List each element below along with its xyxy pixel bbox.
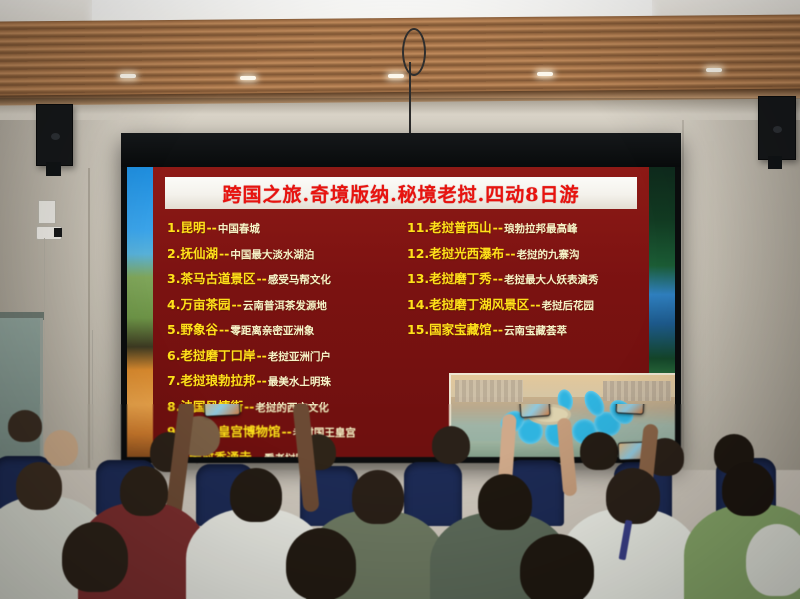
- item-dash: --: [205, 220, 217, 235]
- item-number: 1.: [167, 220, 180, 235]
- downlight-icon: [240, 76, 256, 80]
- item-dash: --: [492, 271, 504, 286]
- item-dash: --: [230, 297, 242, 312]
- left-wall-speaker: [36, 104, 73, 166]
- list-item: 15. 国家宝藏馆 -- 云南宝藏荟萃: [407, 319, 639, 338]
- item-desc: 琅勃拉邦最高峰: [504, 221, 578, 236]
- person-head: [580, 432, 618, 470]
- slide-title-band: 跨国之旅.奇境版纳.秘境老挝.四动8日游: [165, 177, 637, 209]
- item-desc: 中国春城: [218, 221, 260, 236]
- person-head: [230, 468, 282, 522]
- item-name: 老挝磨丁秀: [429, 268, 492, 287]
- item-number: 14.: [407, 297, 429, 312]
- item-number: 3.: [167, 271, 180, 286]
- item-number: 15.: [407, 322, 429, 337]
- item-desc: 云南宝藏荟萃: [504, 323, 567, 338]
- list-item: 3. 茶马古道景区 -- 感受马帮文化: [167, 268, 399, 287]
- speaker-bracket: [768, 156, 782, 169]
- list-item: 7. 老挝琅勃拉邦 -- 最美水上明珠: [167, 370, 399, 389]
- ceiling-shadow: [0, 98, 800, 114]
- item-dash: --: [492, 322, 504, 337]
- item-number: 2.: [167, 246, 180, 261]
- person-head: [44, 430, 78, 466]
- camera-lens-icon: [54, 228, 62, 237]
- person-head: [746, 524, 800, 596]
- item-desc: 老挝最大人妖表演秀: [504, 272, 599, 287]
- cable-loop: [402, 28, 426, 76]
- person-head: [8, 410, 42, 442]
- item-desc: 零距离亲密亚洲象: [230, 323, 314, 338]
- item-name: 国家宝藏馆: [429, 319, 492, 338]
- downlight-icon: [537, 72, 553, 76]
- list-item: 2. 抚仙湖 -- 中国最大淡水湖泊: [167, 243, 399, 262]
- phone-camera[interactable]: [519, 404, 550, 418]
- item-number: 4.: [167, 297, 180, 312]
- item-dash: --: [529, 297, 541, 312]
- speaker-bracket: [46, 162, 61, 176]
- item-name: 老挝琅勃拉邦: [180, 370, 255, 389]
- item-number: 11.: [407, 220, 429, 235]
- phone-camera[interactable]: [204, 404, 241, 417]
- item-dash: --: [218, 322, 230, 337]
- item-desc: 老挝的九寨沟: [517, 247, 580, 262]
- item-number: 5.: [167, 322, 180, 337]
- item-number: 12.: [407, 246, 429, 261]
- list-item: 12. 老挝光西瀑布 -- 老挝的九寨沟: [407, 243, 639, 262]
- list-item: 11. 老挝普西山 -- 琅勃拉邦最高峰: [407, 217, 639, 236]
- camera-housing: [38, 200, 56, 224]
- wood-slat-ceiling: [0, 15, 800, 102]
- person-head: [16, 462, 62, 510]
- person-head: [520, 534, 594, 599]
- person-head: [722, 462, 774, 516]
- photo-city-right: [603, 381, 670, 401]
- person-head: [606, 468, 660, 524]
- person-head: [286, 528, 356, 599]
- item-dash: --: [255, 271, 267, 286]
- item-name: 老挝光西瀑布: [429, 243, 504, 262]
- item-desc: 老挝后花园: [542, 298, 595, 313]
- item-dash: --: [492, 220, 504, 235]
- slide-title: 跨国之旅.奇境版纳.秘境老挝.四动8日游: [222, 180, 579, 207]
- item-number: 6.: [167, 348, 180, 363]
- item-desc: 最美水上明珠: [268, 374, 331, 389]
- item-desc: 老挝亚洲门户: [268, 349, 331, 364]
- downlight-icon: [120, 74, 136, 78]
- person-head: [120, 466, 168, 516]
- item-number: 13.: [407, 271, 429, 286]
- list-item: 14. 老挝磨丁湖风景区 -- 老挝后花园: [407, 294, 639, 313]
- item-desc: 感受马帮文化: [268, 272, 331, 287]
- right-wall-speaker: [758, 96, 796, 160]
- screen-bezel-top: [121, 133, 681, 167]
- conference-hall-photo: 跨国之旅.奇境版纳.秘境老挝.四动8日游 1. 昆明 -- 中国春城 2. 抚仙…: [0, 0, 800, 599]
- list-item: 1. 昆明 -- 中国春城: [167, 217, 399, 236]
- list-item: 4. 万亩茶园 -- 云南普洱茶发源地: [167, 294, 399, 313]
- item-name: 老挝普西山: [429, 217, 492, 236]
- person-head: [62, 522, 128, 592]
- item-name: 抚仙湖: [180, 243, 218, 262]
- person-head: [352, 470, 404, 524]
- item-desc: 云南普洱茶发源地: [243, 298, 327, 313]
- item-dash: --: [218, 246, 230, 261]
- list-item: 6. 老挝磨丁口岸 -- 老挝亚洲门户: [167, 345, 399, 364]
- item-name: 茶马古道景区: [180, 268, 255, 287]
- item-name: 昆明: [180, 217, 205, 236]
- item-name: 万亩茶园: [180, 294, 230, 313]
- downlight-icon: [388, 74, 404, 78]
- item-name: 老挝磨丁口岸: [180, 345, 255, 364]
- item-dash: --: [255, 373, 267, 388]
- phone-camera[interactable]: [616, 404, 645, 415]
- item-dash: --: [255, 348, 267, 363]
- camera-wire: [44, 238, 45, 423]
- item-name: 野象谷: [180, 319, 218, 338]
- person-head: [478, 474, 532, 530]
- list-item: 5. 野象谷 -- 零距离亲密亚洲象: [167, 319, 399, 338]
- list-item: 13. 老挝磨丁秀 -- 老挝最大人妖表演秀: [407, 268, 639, 287]
- photo-city-left: [455, 380, 522, 402]
- item-name: 老挝磨丁湖风景区: [429, 294, 529, 313]
- person-head: [432, 426, 470, 464]
- audience-area: [0, 404, 800, 599]
- item-dash: --: [504, 246, 516, 261]
- item-desc: 中国最大淡水湖泊: [230, 247, 314, 262]
- downlight-icon: [706, 68, 722, 72]
- item-number: 7.: [167, 373, 180, 388]
